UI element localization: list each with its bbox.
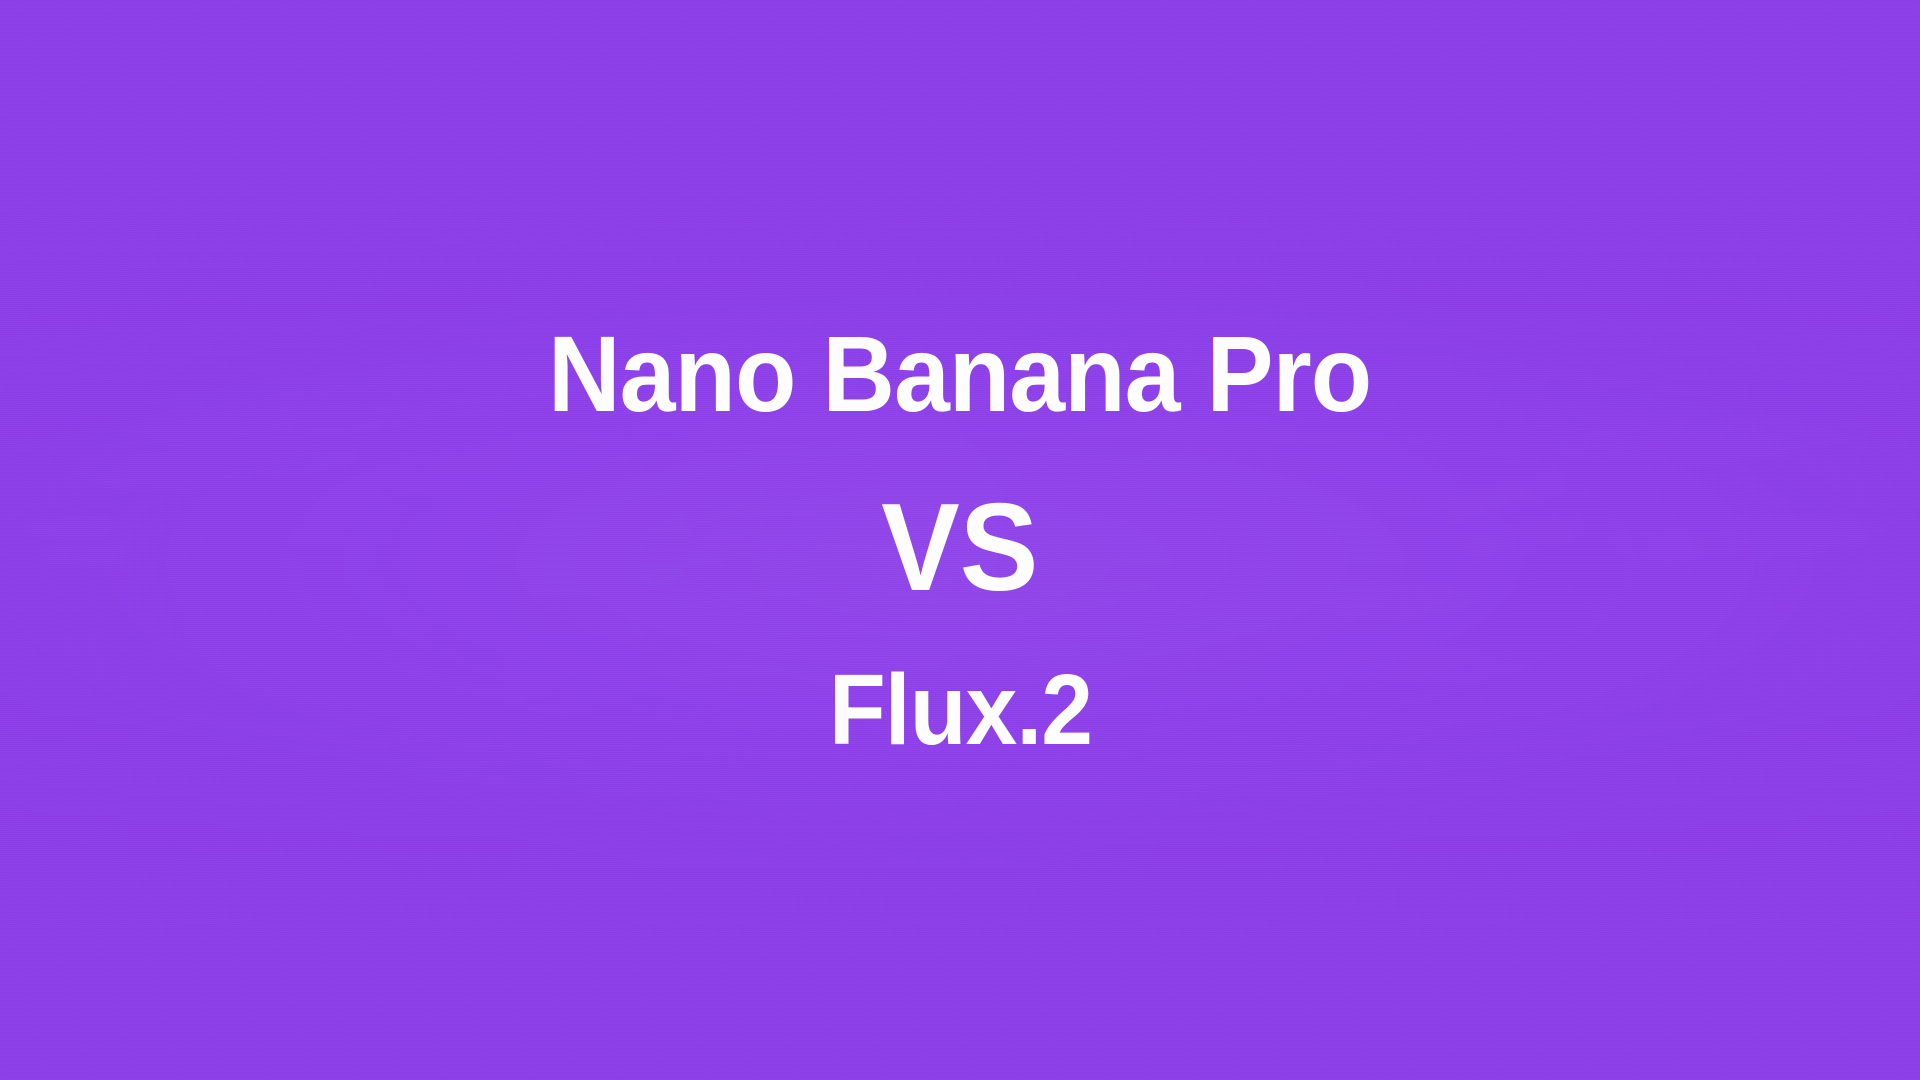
primary-model-title: Nano Banana Pro xyxy=(548,320,1371,428)
title-stack: Nano Banana Pro VS Flux.2 xyxy=(0,0,1920,1080)
versus-label: VS xyxy=(881,486,1038,610)
secondary-model-title: Flux.2 xyxy=(828,660,1091,760)
comparison-title-card: Nano Banana Pro VS Flux.2 xyxy=(0,0,1920,1080)
